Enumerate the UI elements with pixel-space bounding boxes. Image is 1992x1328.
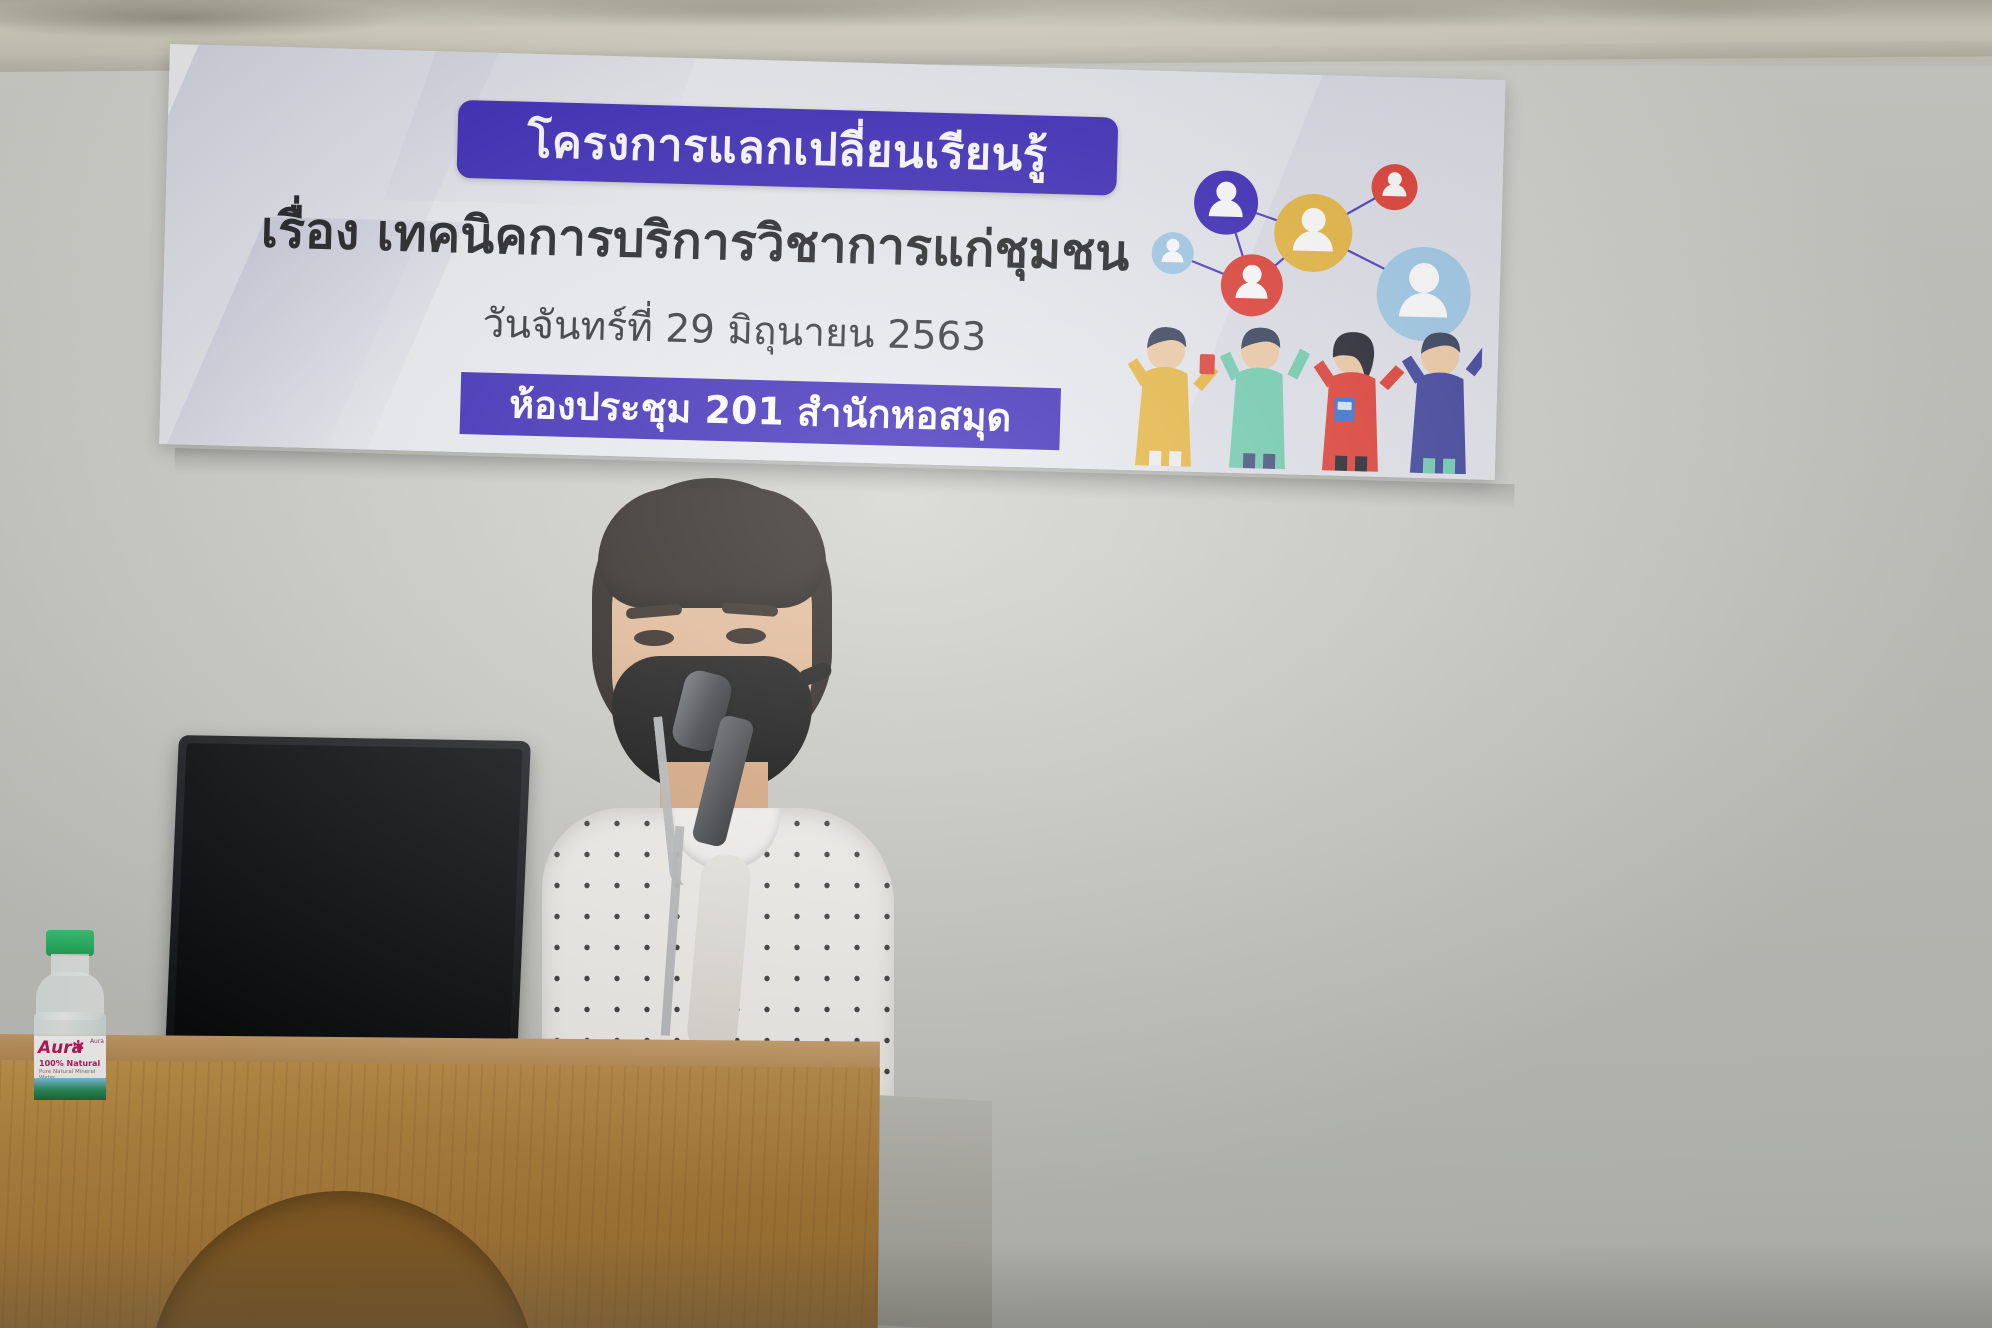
eye-right [726,628,766,644]
bottle-starburst-icon: ✻ [72,1039,85,1054]
laptop-bezel [174,743,523,1043]
eye-left [634,630,674,646]
banner-title-pill: โครงการแลกเปลี่ยนเรียนรู้ [456,100,1118,196]
laptop-screen [165,735,531,1059]
banner-title-text: โครงการแลกเปลี่ยนเรียนรู้ [527,118,1048,177]
banner-venue-strip: ห้องประชุม 201 สำนักหอสมุด [460,372,1061,450]
network-node-avatars [1150,158,1475,343]
banner-date-text: วันจันทร์ที่ 29 มิถุนายน 2563 [482,305,1183,363]
photo-scene: โครงการแลกเปลี่ยนเรียนรู้ เรื่อง เทคนิคก… [0,0,1992,1328]
water-bottle: Aura ✻ 100% Natural Pure Natural Mineral… [24,930,114,1100]
social-network-illustration [1119,100,1489,475]
event-banner: โครงการแลกเปลี่ยนเรียนรู้ เรื่อง เทคนิคก… [159,44,1505,480]
bottle-side-text: Aura [90,1038,104,1046]
banner-venue-text: ห้องประชุม 201 สำนักหอสมุด [509,385,1012,437]
bottle-landscape-graphic [34,1078,106,1100]
floor-shading [0,1240,1992,1328]
bottle-tagline-text: 100% Natural [39,1060,100,1068]
microphone-gooseneck-lower [661,826,745,1040]
hair-front [598,488,826,608]
bottle-label: Aura ✻ 100% Natural Pure Natural Mineral… [34,1036,106,1100]
illustration-people [1125,324,1489,475]
bottle-cap [46,930,94,956]
